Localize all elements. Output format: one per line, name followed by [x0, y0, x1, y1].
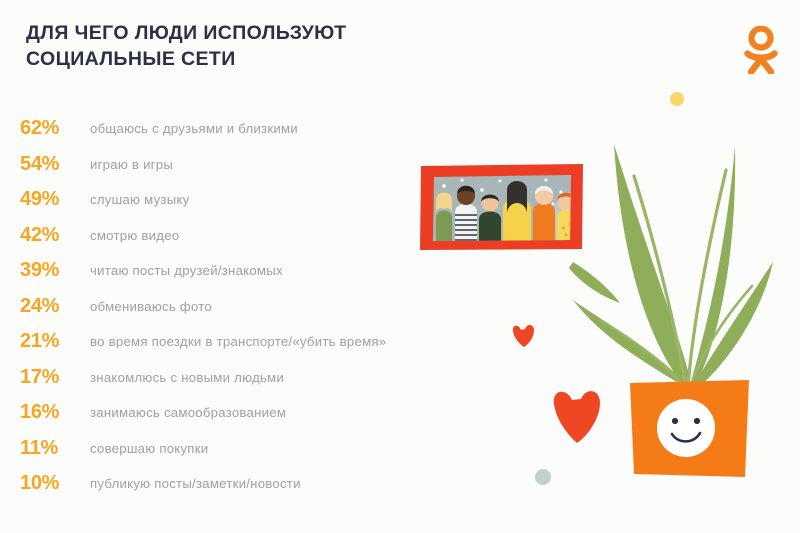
ok-odnoklassniki-logo — [742, 26, 780, 74]
list-item: 21% во время поездки в транспорте/«убить… — [0, 324, 500, 360]
list-item: 11% совершаю покупки — [0, 431, 500, 467]
list-item: 10% публикую посты/заметки/новости — [0, 466, 500, 502]
stat-label: играю в игры — [90, 157, 173, 172]
list-item: 42% смотрю видео — [0, 218, 500, 254]
stat-percent: 24% — [20, 295, 82, 318]
face-smile — [672, 433, 700, 441]
page-title: Для чего люди используют социальные сети — [26, 21, 456, 73]
stat-percent: 39% — [20, 259, 82, 282]
list-item: 24% обмениваюсь фото — [0, 289, 500, 325]
stat-label: читаю посты друзей/знакомых — [90, 263, 283, 278]
heart-small-icon — [513, 325, 534, 347]
pot-face — [657, 399, 715, 457]
stat-label: во время поездки в транспорте/«убить вре… — [90, 334, 386, 349]
infographic-page: Для чего люди используют социальные сети… — [0, 0, 800, 533]
face-eye-left — [672, 418, 678, 424]
stat-list: 62% общаюсь с друзьями и близкими 54% иг… — [0, 111, 500, 502]
list-item: 62% общаюсь с друзьями и близкими — [0, 111, 500, 147]
face-eye-right — [694, 418, 700, 424]
stat-percent: 17% — [20, 366, 82, 389]
stat-percent: 54% — [20, 153, 82, 176]
stat-percent: 11% — [20, 437, 82, 460]
list-item: 39% читаю посты друзей/знакомых — [0, 253, 500, 289]
stat-percent: 21% — [20, 330, 82, 353]
flower-pot — [630, 380, 749, 477]
stat-percent: 49% — [20, 188, 82, 211]
yellow-dot — [670, 92, 684, 106]
stat-percent: 62% — [20, 117, 82, 140]
stat-label: совершаю покупки — [90, 441, 208, 456]
teal-dot — [535, 469, 551, 485]
heart-large-icon — [554, 391, 600, 443]
stat-label: публикую посты/заметки/новости — [90, 476, 301, 491]
stat-percent: 16% — [20, 401, 82, 424]
stat-percent: 42% — [20, 224, 82, 247]
list-item: 17% знакомлюсь с новыми людьми — [0, 360, 500, 396]
stat-percent: 10% — [20, 472, 82, 495]
stat-label: слушаю музыку — [90, 192, 189, 207]
plant-leaf-overlap — [569, 262, 620, 303]
list-item: 54% играю в игры — [0, 147, 500, 183]
plant-leaves — [573, 144, 773, 388]
stat-label: знакомлюсь с новыми людьми — [90, 370, 284, 385]
stat-label: обмениваюсь фото — [90, 299, 212, 314]
list-item: 49% слушаю музыку — [0, 182, 500, 218]
stat-label: общаюсь с друзьями и близкими — [90, 121, 298, 136]
stat-label: смотрю видео — [90, 228, 179, 243]
list-item: 16% занимаюсь самообразованием — [0, 395, 500, 431]
stat-label: занимаюсь самообразованием — [90, 405, 286, 420]
